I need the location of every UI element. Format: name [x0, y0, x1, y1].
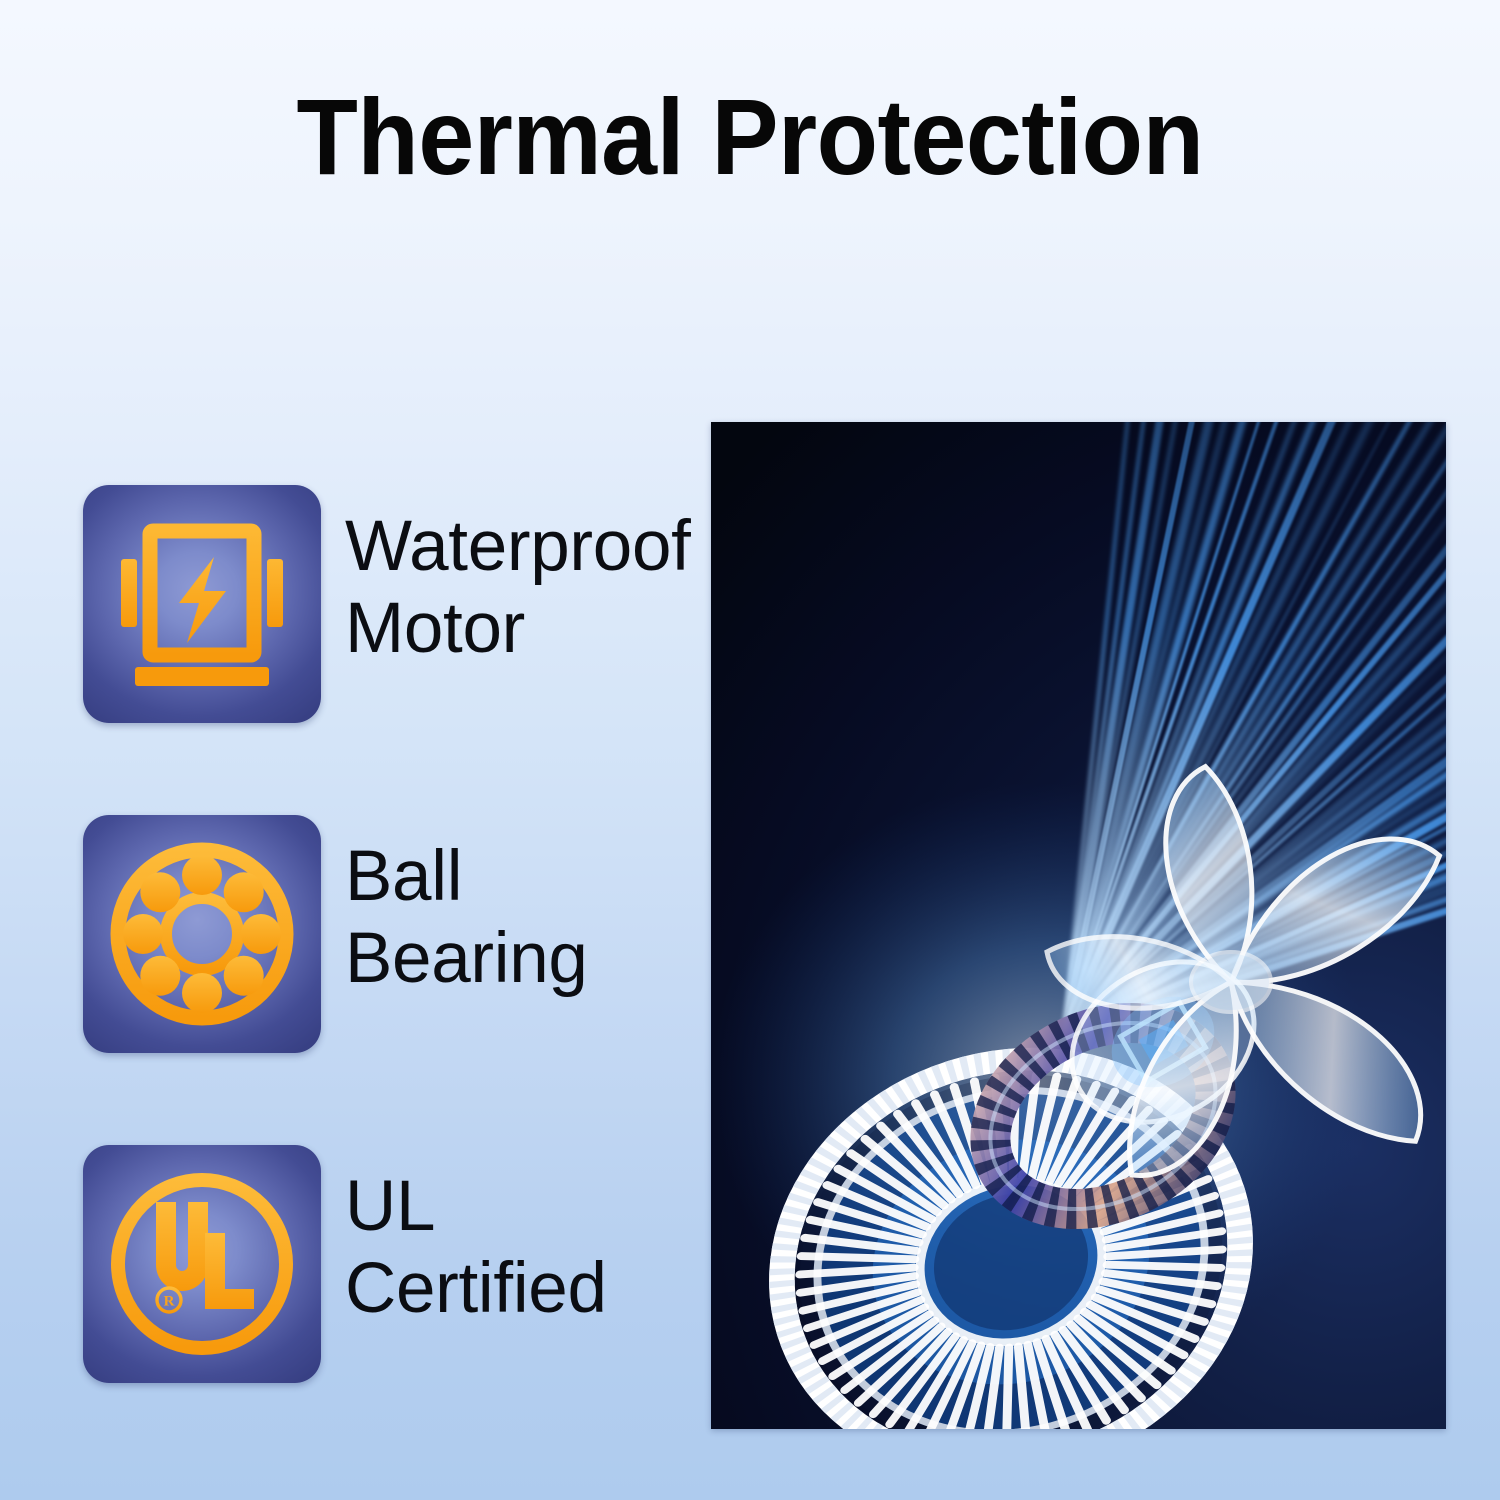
product-photo-panel — [711, 422, 1446, 1429]
fan-motor-airflow-photo — [711, 422, 1446, 1429]
feature-item-ul-certified: R UL Certified — [83, 1145, 683, 1383]
svg-text:R: R — [164, 1294, 175, 1310]
page-title: Thermal Protection — [53, 82, 1448, 192]
ball-bearing-icon — [83, 815, 321, 1053]
product-feature-infographic: Thermal Protection — [0, 0, 1500, 1500]
ul-certified-icon: R — [83, 1145, 321, 1383]
feature-item-ball-bearing: Ball Bearing — [83, 815, 683, 1053]
feature-list: Waterproof Motor — [83, 485, 683, 1383]
waterproof-motor-icon — [83, 485, 321, 723]
feature-item-waterproof-motor: Waterproof Motor — [83, 485, 683, 723]
